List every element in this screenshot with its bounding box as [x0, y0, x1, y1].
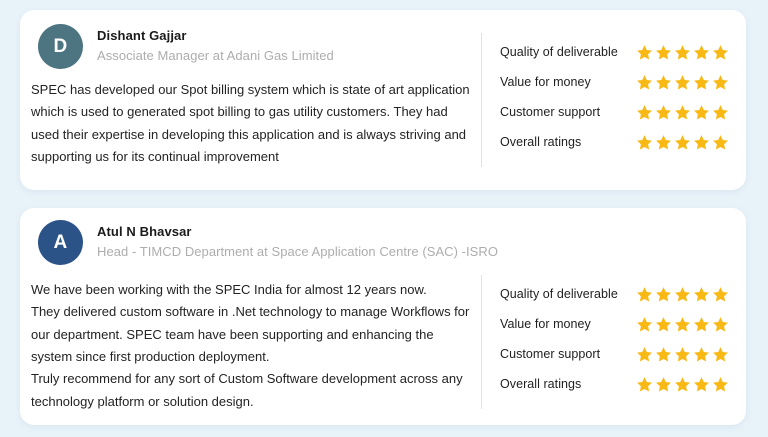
testimonial-card: D Dishant Gajjar Associate Manager at Ad… — [20, 10, 746, 190]
star-icon — [636, 346, 653, 363]
author-role: Head - TIMCD Department at Space Applica… — [97, 244, 498, 261]
rating-row: Overall ratings — [500, 127, 729, 157]
star-icon — [655, 104, 672, 121]
star-icon — [655, 44, 672, 61]
star-icon — [674, 44, 691, 61]
testimonial-body: We have been working with the SPEC India… — [20, 265, 746, 413]
star-icon — [674, 346, 691, 363]
testimonial-card: A Atul N Bhavsar Head - TIMCD Department… — [20, 208, 746, 425]
star-icon — [693, 376, 710, 393]
rating-row: Overall ratings — [500, 369, 729, 399]
rating-label: Overall ratings — [500, 135, 632, 149]
star-rating — [636, 286, 729, 303]
star-icon — [712, 346, 729, 363]
rating-row: Value for money — [500, 309, 729, 339]
rating-label: Value for money — [500, 75, 632, 89]
star-icon — [712, 134, 729, 151]
testimonial-body: SPEC has developed our Spot billing syst… — [20, 69, 746, 168]
star-icon — [674, 104, 691, 121]
rating-row: Quality of deliverable — [500, 37, 729, 67]
star-rating — [636, 104, 729, 121]
author-name: Dishant Gajjar — [97, 28, 334, 45]
star-icon — [712, 316, 729, 333]
star-icon — [655, 74, 672, 91]
star-rating — [636, 376, 729, 393]
star-icon — [636, 286, 653, 303]
avatar: D — [38, 24, 83, 69]
rating-row: Customer support — [500, 97, 729, 127]
star-icon — [636, 44, 653, 61]
rating-row: Customer support — [500, 339, 729, 369]
star-icon — [712, 104, 729, 121]
star-icon — [636, 134, 653, 151]
star-rating — [636, 44, 729, 61]
rating-label: Quality of deliverable — [500, 287, 632, 301]
rating-label: Value for money — [500, 317, 632, 331]
star-icon — [674, 316, 691, 333]
star-icon — [693, 346, 710, 363]
rating-label: Overall ratings — [500, 377, 632, 391]
rating-label: Quality of deliverable — [500, 45, 632, 59]
star-icon — [655, 346, 672, 363]
star-icon — [693, 104, 710, 121]
star-icon — [693, 134, 710, 151]
star-icon — [712, 44, 729, 61]
star-rating — [636, 316, 729, 333]
star-icon — [655, 376, 672, 393]
review-text: We have been working with the SPEC India… — [20, 265, 472, 413]
author-role: Associate Manager at Adani Gas Limited — [97, 48, 334, 65]
star-icon — [674, 376, 691, 393]
star-icon — [674, 134, 691, 151]
star-icon — [693, 286, 710, 303]
rating-label: Customer support — [500, 347, 632, 361]
author-block: Dishant Gajjar Associate Manager at Adan… — [97, 28, 334, 64]
star-icon — [712, 286, 729, 303]
star-icon — [693, 316, 710, 333]
star-icon — [636, 104, 653, 121]
star-rating — [636, 74, 729, 91]
star-icon — [636, 74, 653, 91]
star-icon — [636, 376, 653, 393]
star-icon — [655, 316, 672, 333]
review-text: SPEC has developed our Spot billing syst… — [20, 69, 472, 168]
rating-row: Quality of deliverable — [500, 279, 729, 309]
testimonials-page: D Dishant Gajjar Associate Manager at Ad… — [0, 0, 768, 437]
star-icon — [655, 286, 672, 303]
rating-row: Value for money — [500, 67, 729, 97]
star-rating — [636, 134, 729, 151]
star-icon — [693, 74, 710, 91]
star-icon — [674, 74, 691, 91]
testimonial-header: A Atul N Bhavsar Head - TIMCD Department… — [20, 208, 746, 265]
ratings-panel: Quality of deliverable Value for money C… — [481, 33, 729, 167]
author-name: Atul N Bhavsar — [97, 224, 498, 241]
star-icon — [655, 134, 672, 151]
star-rating — [636, 346, 729, 363]
star-icon — [636, 316, 653, 333]
star-icon — [693, 44, 710, 61]
star-icon — [712, 376, 729, 393]
star-icon — [674, 286, 691, 303]
star-icon — [712, 74, 729, 91]
ratings-panel: Quality of deliverable Value for money C… — [481, 275, 729, 409]
author-block: Atul N Bhavsar Head - TIMCD Department a… — [97, 224, 498, 260]
avatar: A — [38, 220, 83, 265]
rating-label: Customer support — [500, 105, 632, 119]
